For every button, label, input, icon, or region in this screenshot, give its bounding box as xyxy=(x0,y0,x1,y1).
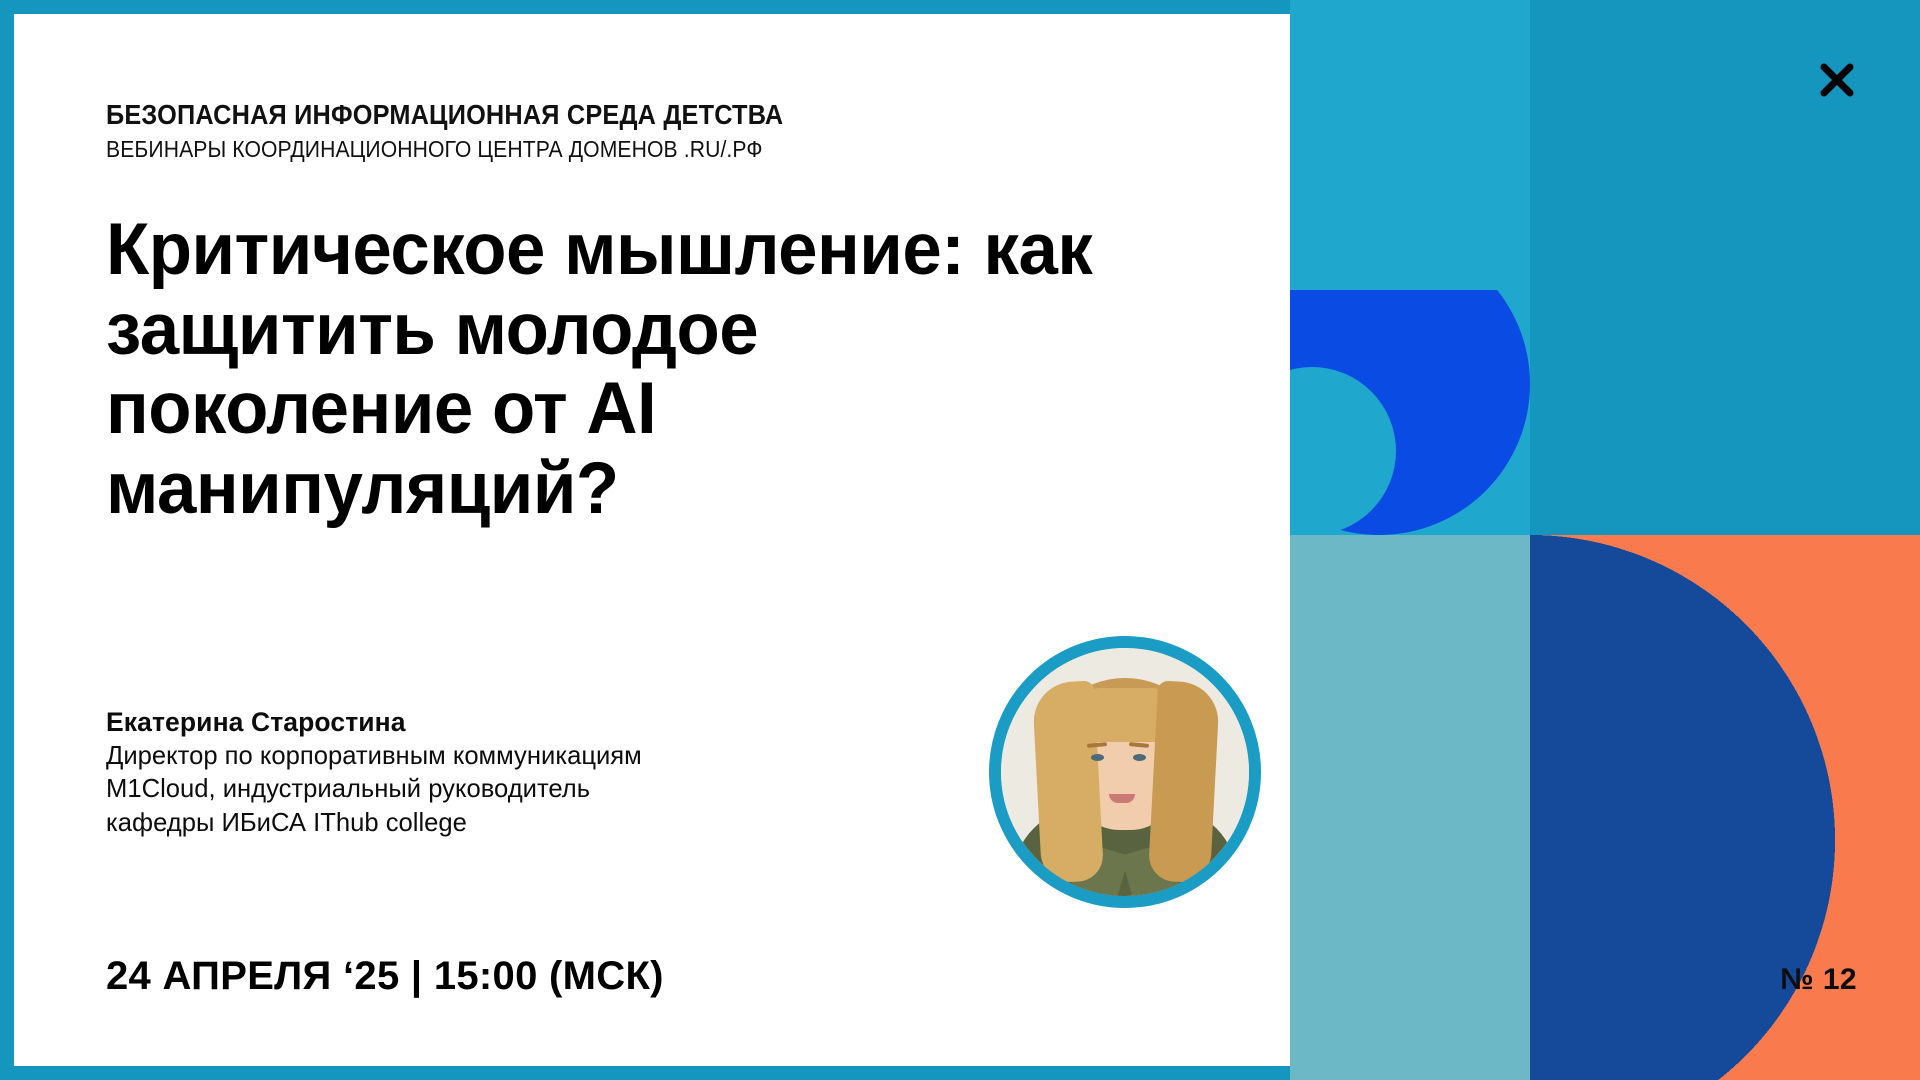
decorative-shapes-panel xyxy=(1290,0,1920,1080)
content-card: БЕЗОПАСНАЯ ИНФОРМАЦИОННАЯ СРЕДА ДЕТСТВА … xyxy=(14,14,1290,1066)
event-datetime: 24 АПРЕЛЯ ‘25 | 15:00 (МСК) xyxy=(106,954,664,999)
program-subtitle: ВЕБИНАРЫ КООРДИНАЦИОННОГО ЦЕНТРА ДОМЕНОВ… xyxy=(106,136,1195,163)
shape-navy-block xyxy=(1530,535,1920,1080)
shape-orange-quarter-circle xyxy=(1530,535,1920,1080)
close-icon xyxy=(1817,60,1857,100)
shape-muted-teal-block xyxy=(1290,535,1530,1080)
issue-number-badge: № 12 xyxy=(1780,963,1857,997)
speaker-name: Екатерина Старостина xyxy=(106,707,826,738)
speaker-block: Екатерина Старостина Директор по корпора… xyxy=(106,707,826,839)
page-title: Критическое мышление: как защитить молод… xyxy=(106,210,1105,528)
close-button[interactable] xyxy=(1814,57,1860,103)
program-title: БЕЗОПАСНАЯ ИНФОРМАЦИОННАЯ СРЕДА ДЕТСТВА xyxy=(106,99,1195,131)
speaker-photo xyxy=(1001,648,1249,896)
shape-cyan-block xyxy=(1530,0,1920,535)
speaker-role: Директор по корпоративным коммуникациям … xyxy=(106,739,815,839)
avatar xyxy=(989,636,1261,908)
